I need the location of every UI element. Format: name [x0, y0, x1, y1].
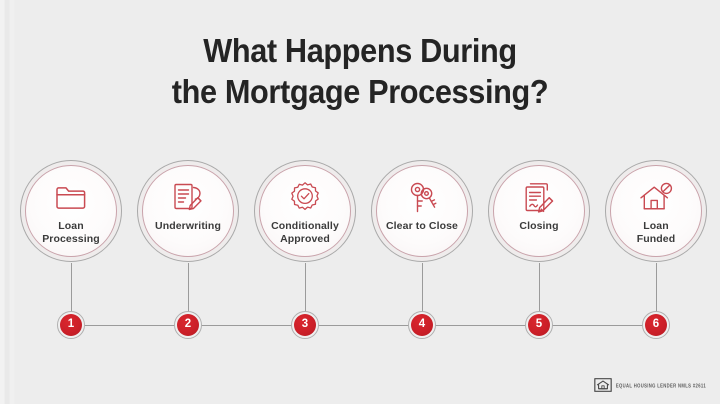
footer-disclosure: EQUAL HOUSING LENDER NMLS #2611	[594, 378, 706, 392]
title-line-1: What Happens During	[25, 30, 695, 71]
timeline-stem-2	[188, 263, 189, 312]
page-title: What Happens During the Mortgage Process…	[25, 30, 695, 112]
step-node-3[interactable]: Conditionally Approved	[254, 160, 356, 262]
step-node-2-label-line1: Underwriting	[155, 220, 221, 232]
approved-seal-icon	[289, 179, 321, 215]
folder-icon	[54, 179, 88, 215]
timeline-stem-3	[305, 263, 306, 312]
step-marker-2[interactable]: 2	[174, 311, 202, 339]
equal-housing-lender-text: EQUAL HOUSING LENDER NMLS #2611	[616, 382, 706, 388]
step-marker-3-number: 3	[294, 314, 316, 336]
step-node-2-label: Underwriting	[149, 220, 227, 233]
step-node-1-label-line2: Processing	[42, 233, 100, 245]
timeline-stem-1	[71, 263, 72, 312]
step-node-3-inner: Conditionally Approved	[259, 165, 351, 257]
step-node-6[interactable]: Loan Funded	[605, 160, 707, 262]
step-marker-2-number: 2	[177, 314, 199, 336]
timeline-stem-4	[422, 263, 423, 312]
step-node-2-inner: Underwriting	[142, 165, 234, 257]
step-node-6-label: Loan Funded	[631, 220, 682, 245]
timeline-stem-5	[539, 263, 540, 312]
timeline-horizontal-line	[71, 325, 655, 326]
step-marker-3[interactable]: 3	[291, 311, 319, 339]
step-marker-5-number: 5	[528, 314, 550, 336]
step-marker-6[interactable]: 6	[642, 311, 670, 339]
step-node-6-label-line1: Loan	[643, 220, 668, 232]
step-node-1[interactable]: Loan Processing	[20, 160, 122, 262]
step-node-3-label-line2: Approved	[280, 233, 330, 245]
step-node-5-inner: Closing	[493, 165, 585, 257]
step-node-5-label-line1: Closing	[519, 220, 558, 232]
title-line-2: the Mortgage Processing?	[25, 71, 695, 112]
step-node-3-label: Conditionally Approved	[265, 220, 345, 245]
step-node-5-label: Closing	[513, 220, 564, 233]
document-pen-icon	[171, 179, 205, 215]
step-marker-1-number: 1	[60, 314, 82, 336]
step-node-5[interactable]: Closing	[488, 160, 590, 262]
step-marker-6-number: 6	[645, 314, 667, 336]
infographic-canvas: What Happens During the Mortgage Process…	[0, 0, 720, 404]
step-marker-5[interactable]: 5	[525, 311, 553, 339]
step-node-4-label: Clear to Close	[380, 220, 464, 233]
step-node-6-label-line2: Funded	[637, 233, 676, 245]
step-marker-4[interactable]: 4	[408, 311, 436, 339]
step-node-6-inner: Loan Funded	[610, 165, 702, 257]
step-marker-1[interactable]: 1	[57, 311, 85, 339]
step-node-4-label-line1: Clear to Close	[386, 220, 458, 232]
step-node-3-label-line1: Conditionally	[271, 220, 339, 232]
keys-icon	[407, 179, 437, 215]
step-node-4-inner: Clear to Close	[376, 165, 468, 257]
step-node-1-label: Loan Processing	[36, 220, 106, 245]
step-node-2[interactable]: Underwriting	[137, 160, 239, 262]
step-node-4[interactable]: Clear to Close	[371, 160, 473, 262]
step-node-1-inner: Loan Processing	[25, 165, 117, 257]
contract-signing-icon	[522, 179, 556, 215]
step-node-1-label-line1: Loan	[58, 220, 83, 232]
step-marker-4-number: 4	[411, 314, 433, 336]
timeline-stem-6	[656, 263, 657, 312]
equal-housing-lender-icon	[594, 378, 612, 392]
house-seal-icon	[638, 179, 674, 215]
